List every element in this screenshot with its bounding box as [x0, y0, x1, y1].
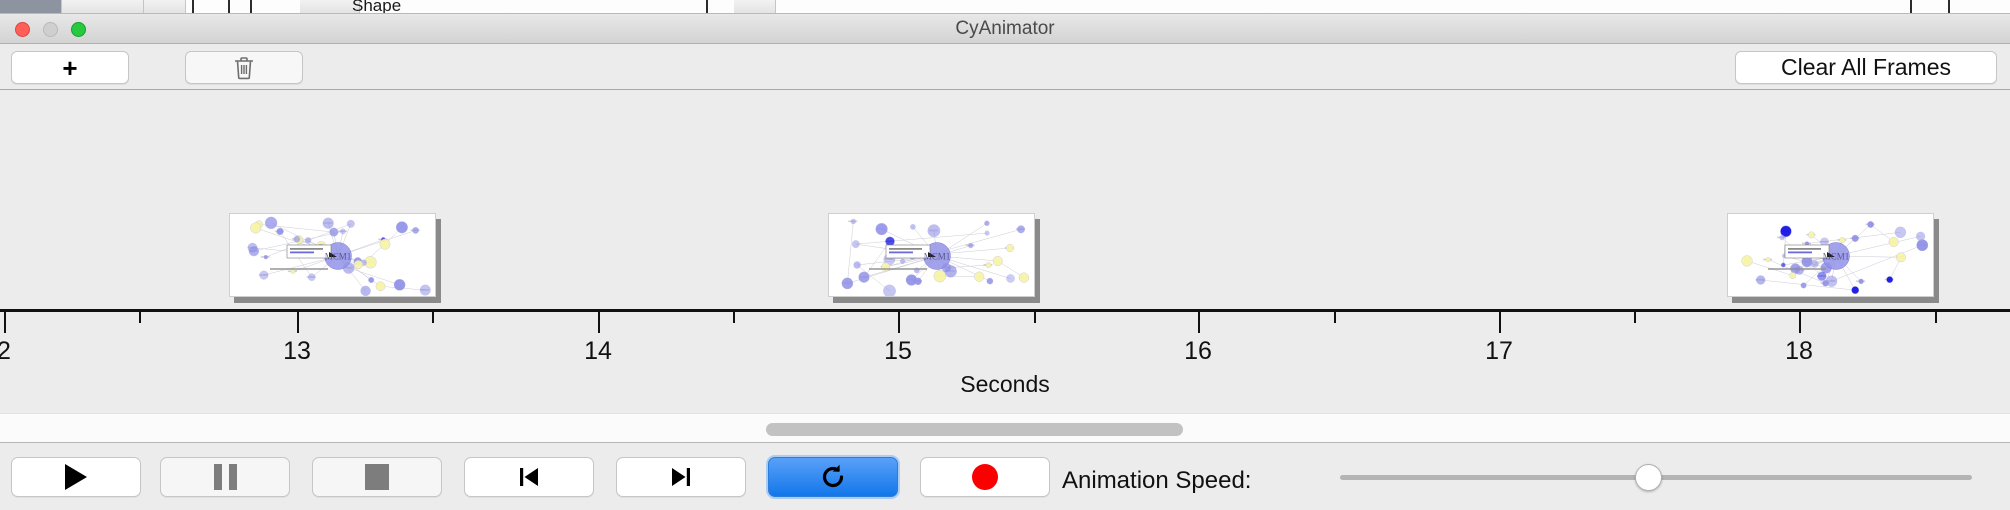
- timeline-frame-thumbnail[interactable]: MCM1: [828, 213, 1040, 301]
- skip-forward-icon: [668, 464, 694, 490]
- play-icon: [65, 464, 87, 490]
- trash-icon: [233, 56, 255, 80]
- loop-button[interactable]: [768, 457, 898, 497]
- axis-tick-label-13: 13: [283, 337, 311, 366]
- clear-all-frames-button[interactable]: Clear All Frames: [1735, 51, 1997, 84]
- background-divider-4: [706, 0, 708, 14]
- background-tab-1: [62, 0, 144, 14]
- axis-tick-18: [1799, 312, 1801, 333]
- add-frame-button[interactable]: +: [11, 51, 129, 84]
- background-tab-2: [144, 0, 186, 14]
- stop-icon: [365, 464, 389, 490]
- timeline-axis-title: Seconds: [0, 371, 2010, 398]
- axis-tick-16: [1198, 312, 1200, 333]
- playback-controls: Animation Speed:: [0, 444, 2010, 510]
- svg-text:MCM1: MCM1: [325, 252, 352, 262]
- axis-tick-15.5: [1034, 312, 1036, 323]
- svg-text:MCM1: MCM1: [924, 252, 951, 262]
- title-bar: CyAnimator: [0, 14, 2010, 44]
- animation-speed-thumb[interactable]: [1635, 464, 1662, 491]
- axis-tick-label-15: 15: [884, 337, 912, 366]
- stop-button[interactable]: [312, 457, 442, 497]
- frame-network-preview: MCM1: [229, 213, 436, 297]
- axis-tick-label-12: 2: [0, 337, 11, 366]
- axis-tick-label-16: 16: [1184, 337, 1212, 366]
- background-divider-3: [250, 0, 252, 14]
- timeline-scrollbar[interactable]: [0, 413, 2010, 443]
- background-tab-active: [0, 0, 62, 14]
- axis-tick-label-18: 18: [1785, 337, 1813, 366]
- background-divider-1: [192, 0, 194, 14]
- record-button[interactable]: [920, 457, 1050, 497]
- record-icon: [972, 464, 998, 490]
- background-tab-4: [734, 0, 776, 14]
- timeline-frame-thumbnail[interactable]: MCM1: [229, 213, 441, 301]
- axis-tick-17.5: [1634, 312, 1636, 323]
- frame-network-preview: MCM1: [828, 213, 1035, 297]
- axis-tick-15: [898, 312, 900, 333]
- axis-tick-13: [297, 312, 299, 333]
- pause-icon: [214, 464, 237, 490]
- animation-speed-label: Animation Speed:: [1062, 467, 1251, 495]
- timeline-axis-line: [0, 309, 2010, 312]
- background-window-label: Shape: [352, 0, 401, 14]
- background-divider-2: [228, 0, 230, 14]
- timeline-frame-thumbnail[interactable]: MCM1: [1727, 213, 1939, 301]
- skip-back-icon: [516, 464, 542, 490]
- axis-tick-12.5: [139, 312, 141, 323]
- background-window-strip: Shape: [0, 0, 2010, 14]
- skip-to-start-button[interactable]: [464, 457, 594, 497]
- frame-network-preview: MCM1: [1727, 213, 1934, 297]
- axis-tick-12: [4, 312, 6, 333]
- window-title: CyAnimator: [0, 14, 2010, 44]
- axis-tick-18.5: [1935, 312, 1937, 323]
- timeline-scrollbar-thumb[interactable]: [766, 423, 1183, 436]
- axis-tick-label-14: 14: [584, 337, 612, 366]
- svg-text:MCM1: MCM1: [1823, 252, 1850, 262]
- pause-button[interactable]: [160, 457, 290, 497]
- plus-icon: +: [62, 55, 77, 81]
- axis-tick-14.5: [733, 312, 735, 323]
- axis-tick-13.5: [432, 312, 434, 323]
- background-divider-6: [1948, 0, 1950, 14]
- loop-icon: [818, 462, 848, 492]
- axis-tick-14: [598, 312, 600, 333]
- axis-tick-16.5: [1334, 312, 1336, 323]
- background-divider-5: [1910, 0, 1912, 14]
- delete-frame-button[interactable]: [185, 51, 303, 84]
- axis-tick-17: [1499, 312, 1501, 333]
- timeline-panel[interactable]: Seconds 2131415161718 MCM1 MCM1: [0, 91, 2010, 413]
- clear-all-frames-label: Clear All Frames: [1781, 54, 1951, 81]
- play-button[interactable]: [11, 457, 141, 497]
- toolbar: + Clear All Frames: [0, 45, 2010, 90]
- axis-tick-label-17: 17: [1485, 337, 1513, 366]
- background-tab-3: [300, 0, 360, 14]
- skip-to-end-button[interactable]: [616, 457, 746, 497]
